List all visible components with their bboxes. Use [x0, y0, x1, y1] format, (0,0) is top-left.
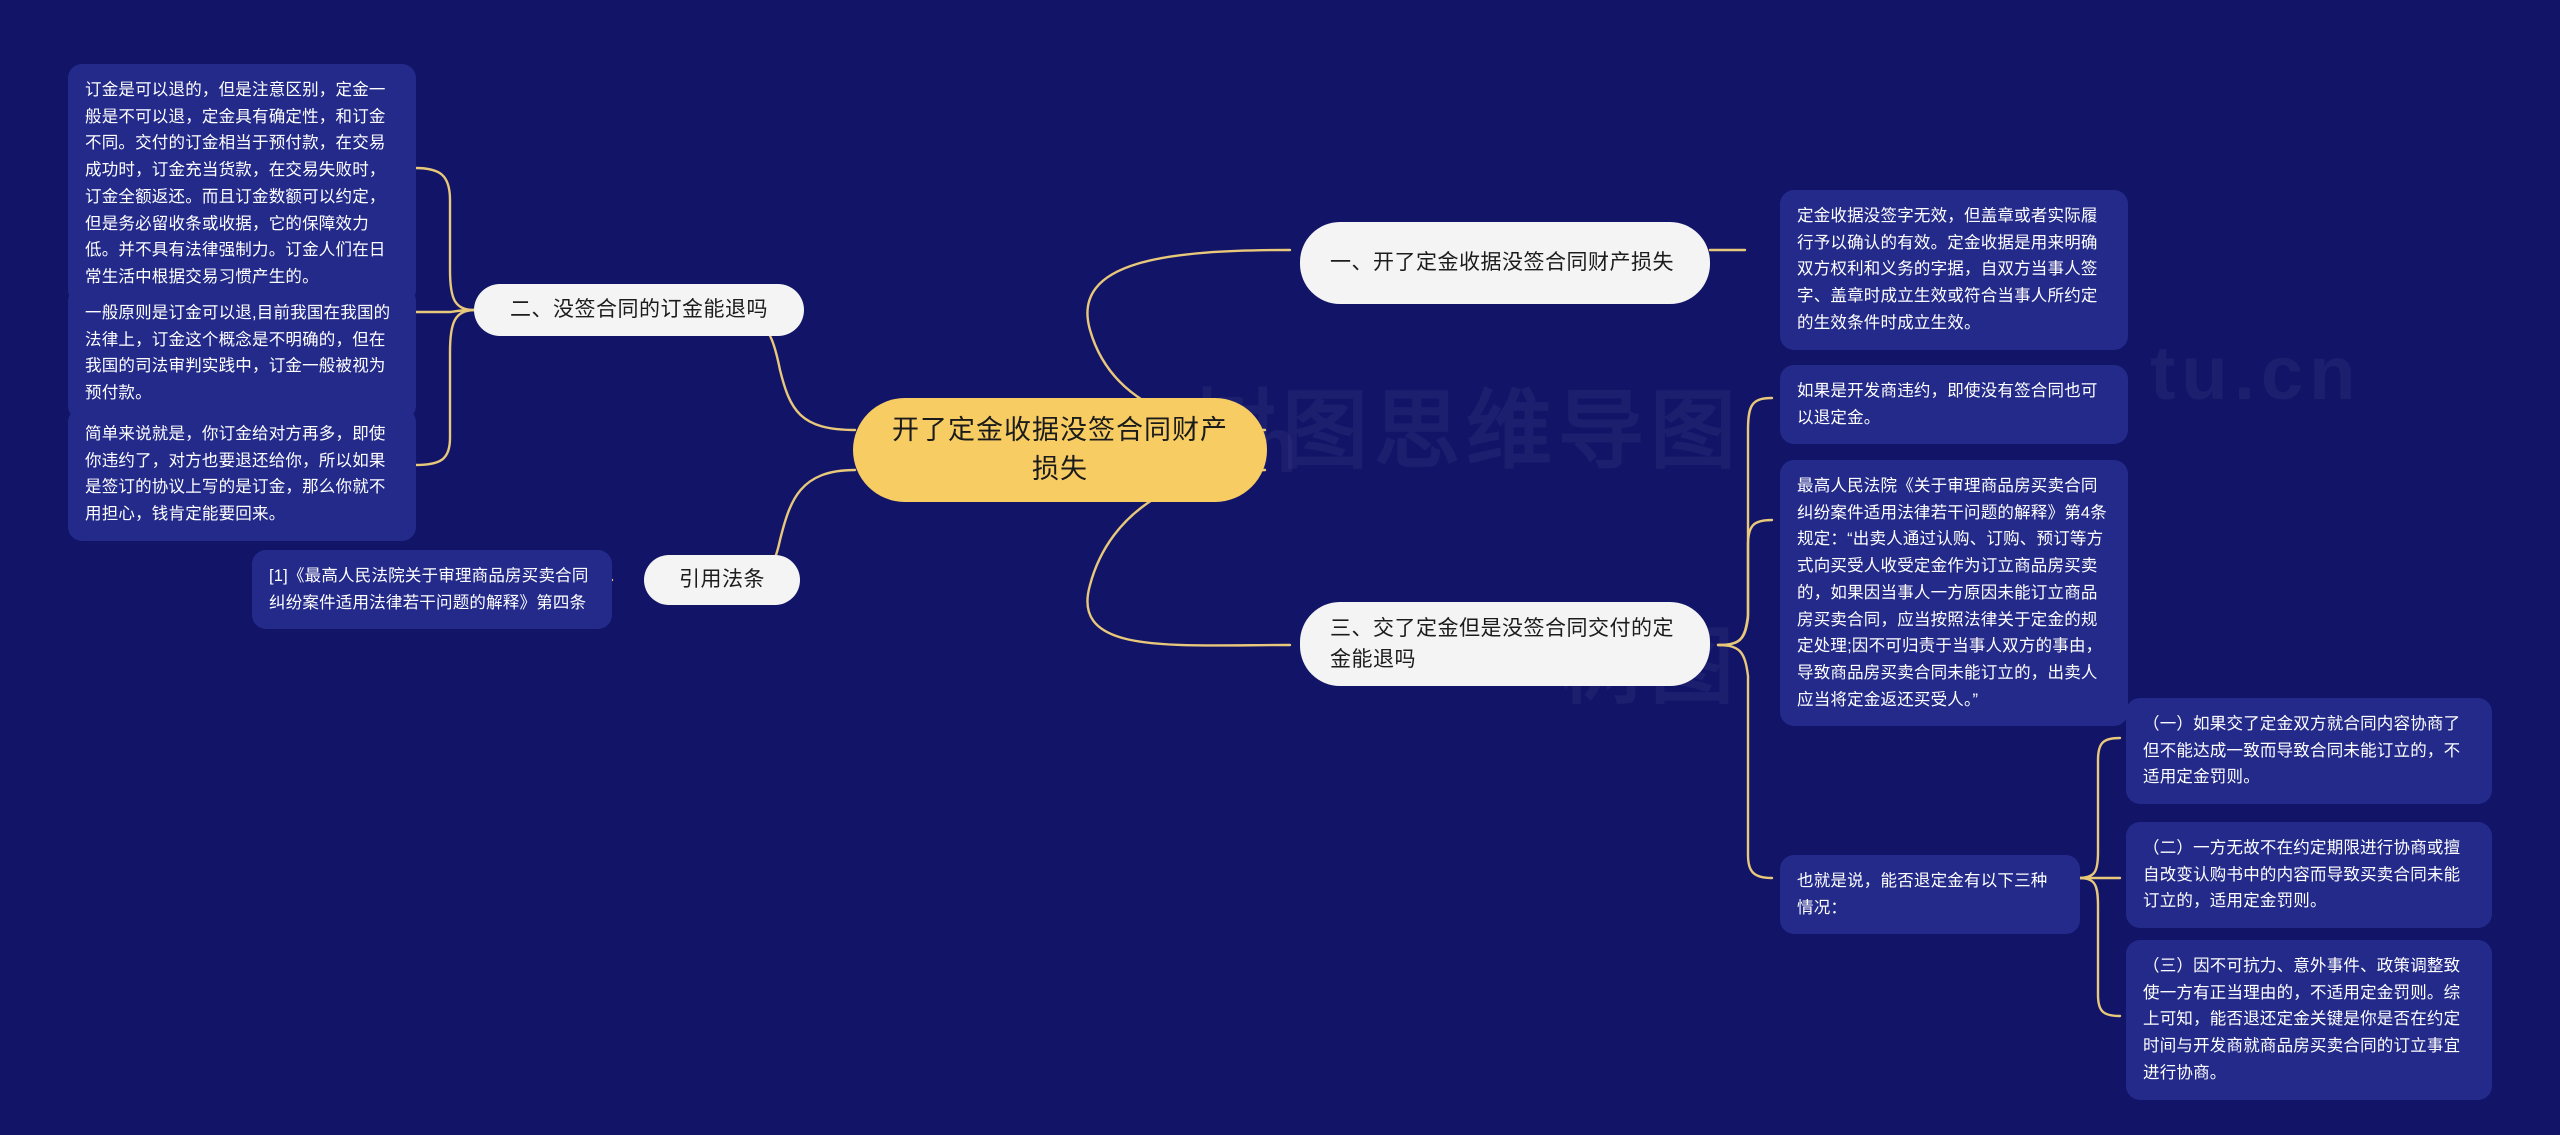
leaf-text: 最高人民法院《关于审理商品房买卖合同纠纷案件适用法律若干问题的解释》第4条规定：…: [1797, 473, 2111, 713]
leaf-text: 简单来说就是，你订金给对方再多，即使你违约了，对方也要退还给你，所以如果是签订的…: [85, 421, 399, 528]
link-branch2-leaf2: [415, 310, 475, 312]
leaf-text-box[interactable]: 最高人民法院《关于审理商品房买卖合同纠纷案件适用法律若干问题的解释》第4条规定：…: [1780, 460, 2128, 726]
leaf-text-box[interactable]: 简单来说就是，你订金给对方再多，即使你违约了，对方也要退还给你，所以如果是签订的…: [68, 408, 416, 541]
leaf-text: 也就是说，能否退定金有以下三种情况：: [1797, 868, 2063, 921]
link-branch3-leaf3: [1718, 645, 1772, 878]
branch-node-2[interactable]: 二、没签合同的订金能退吗: [474, 284, 804, 336]
link-leaf33-c: [2078, 878, 2120, 1016]
branch-node-reference[interactable]: 引用法条: [644, 555, 800, 605]
root-label: 开了定金收据没签合同财产损失: [883, 411, 1237, 489]
leaf-text: 订金是可以退的，但是注意区别，定金一般是不可以退，定金具有确定性，和订金不同。交…: [85, 77, 399, 291]
leaf-text-box[interactable]: 也就是说，能否退定金有以下三种情况：: [1780, 855, 2080, 934]
leaf-text-box[interactable]: （三）因不可抗力、意外事件、政策调整致使一方有正当理由的，不适用定金罚则。综上可…: [2126, 940, 2492, 1100]
leaf-text-box[interactable]: （二）一方无故不在约定期限进行协商或擅自改变认购书中的内容而导致买卖合同未能订立…: [2126, 822, 2492, 928]
leaf-text-box[interactable]: 定金收据没签字无效，但盖章或者实际履行予以确认的有效。定金收据是用来明确双方权利…: [1780, 190, 2128, 350]
leaf-text-box[interactable]: 如果是开发商违约，即使没有签合同也可以退定金。: [1780, 365, 2128, 444]
watermark-text: tu.cn: [2150, 330, 2362, 417]
branch-label: 二、没签合同的订金能退吗: [510, 294, 768, 326]
leaf-text-box[interactable]: [1]《最高人民法院关于审理商品房买卖合同纠纷案件适用法律若干问题的解释》第四条: [252, 550, 612, 629]
branch-label: 一、开了定金收据没签合同财产损失: [1330, 247, 1674, 279]
link-branch2-leaf1: [415, 168, 475, 310]
leaf-text-box[interactable]: 订金是可以退的，但是注意区别，定金一般是不可以退，定金具有确定性，和订金不同。交…: [68, 64, 416, 304]
leaf-text: 如果是开发商违约，即使没有签合同也可以退定金。: [1797, 378, 2111, 431]
mindmap-canvas: 树图思维导图 shutu.cn 树图 tu.cn: [0, 0, 2560, 1135]
leaf-text: （二）一方无故不在约定期限进行协商或擅自改变认购书中的内容而导致买卖合同未能订立…: [2143, 835, 2475, 915]
link-branch3-leaf1: [1718, 398, 1772, 645]
leaf-text-box[interactable]: （一）如果交了定金双方就合同内容协商了但不能达成一致而导致合同未能订立的，不适用…: [2126, 698, 2492, 804]
link-branch2-leaf3: [415, 310, 475, 465]
branch-node-3[interactable]: 三、交了定金但是没签合同交付的定金能退吗: [1300, 602, 1710, 686]
root-node[interactable]: 开了定金收据没签合同财产损失: [853, 398, 1267, 502]
branch-node-1[interactable]: 一、开了定金收据没签合同财产损失: [1300, 222, 1710, 304]
leaf-text: 一般原则是订金可以退,目前我国在我国的法律上，订金这个概念是不明确的，但在我国的…: [85, 300, 399, 407]
leaf-text: 定金收据没签字无效，但盖章或者实际履行予以确认的有效。定金收据是用来明确双方权利…: [1797, 203, 2111, 337]
branch-label: 三、交了定金但是没签合同交付的定金能退吗: [1330, 613, 1680, 676]
leaf-text: [1]《最高人民法院关于审理商品房买卖合同纠纷案件适用法律若干问题的解释》第四条: [269, 563, 595, 616]
branch-label: 引用法条: [679, 564, 765, 596]
leaf-text-box[interactable]: 一般原则是订金可以退,目前我国在我国的法律上，订金这个概念是不明确的，但在我国的…: [68, 287, 416, 420]
leaf-text: （三）因不可抗力、意外事件、政策调整致使一方有正当理由的，不适用定金罚则。综上可…: [2143, 953, 2475, 1087]
watermark-text: 树图思维导图: [1190, 360, 1742, 485]
link-branch3-leaf2: [1718, 520, 1772, 645]
leaf-text: （一）如果交了定金双方就合同内容协商了但不能达成一致而导致合同未能订立的，不适用…: [2143, 711, 2475, 791]
link-leaf33-a: [2078, 738, 2120, 878]
